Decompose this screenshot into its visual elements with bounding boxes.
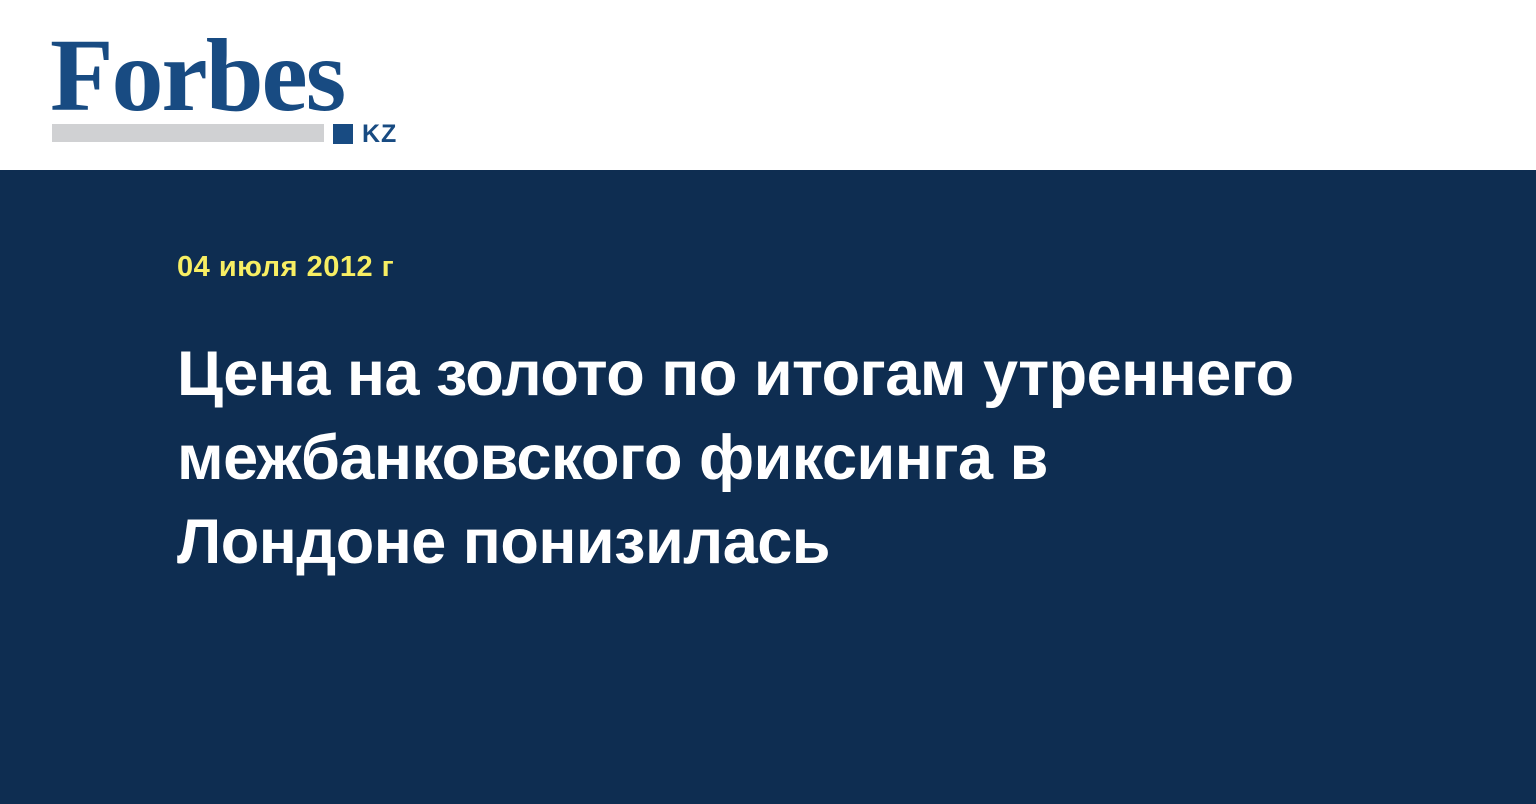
article-hero: 04 июля 2012 г Цена на золото по итогам … bbox=[0, 170, 1536, 804]
forbes-kz-logo[interactable]: Forbes KZ bbox=[50, 24, 415, 146]
site-header: Forbes KZ bbox=[0, 0, 1536, 170]
page-title: Цена на золото по итогам утреннего межба… bbox=[177, 332, 1317, 584]
logo-kz-label: KZ bbox=[362, 123, 397, 145]
article-page: Forbes KZ 04 июля 2012 г Цена на золото … bbox=[0, 0, 1536, 804]
article-hero-content: 04 июля 2012 г Цена на золото по итогам … bbox=[177, 250, 1357, 584]
article-date: 04 июля 2012 г bbox=[177, 250, 1357, 284]
logo-wordmark: Forbes bbox=[50, 24, 344, 128]
logo-underline-rule bbox=[52, 124, 324, 142]
logo-suffix: KZ bbox=[333, 123, 397, 145]
square-bullet-icon bbox=[333, 124, 353, 144]
